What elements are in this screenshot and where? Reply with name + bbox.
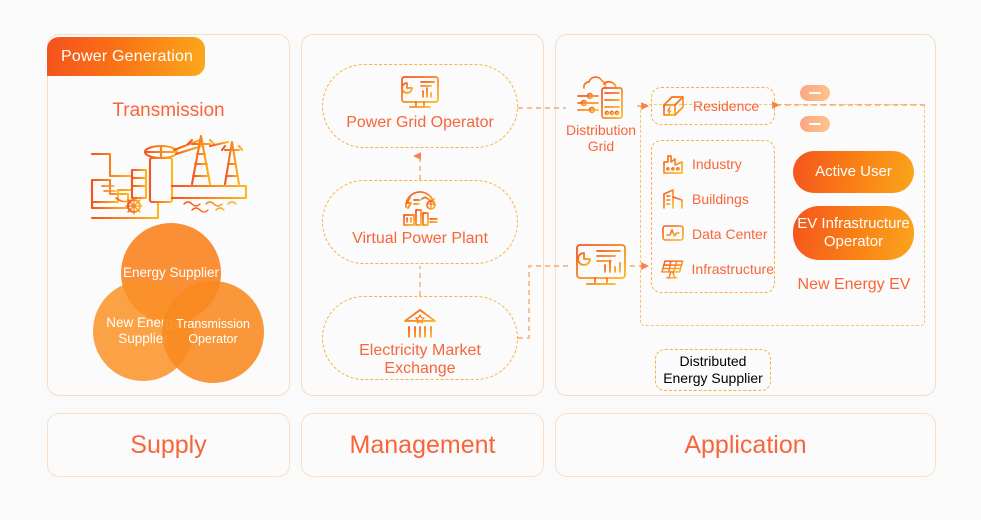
monitor-analytics-icon [399, 75, 441, 111]
residence-label: Residence [693, 98, 759, 114]
node-virtual-power-plant[interactable]: Virtual Power Plant [322, 180, 518, 264]
new-energy-ev-label: New Energy EV [784, 276, 924, 294]
power-generation-label: Power Generation [61, 48, 193, 66]
cloud-server-grid-icon [574, 74, 628, 120]
solar-panel-icon [661, 258, 685, 280]
power-plant-energy-icon [398, 191, 442, 227]
venn-circle-transmission-operator: Transmission Operator [162, 281, 264, 383]
node-power-grid-operator[interactable]: Power Grid Operator [322, 64, 518, 148]
facility-item-infrastructure[interactable]: Infrastructure [661, 258, 774, 280]
footer-management: Management [301, 413, 544, 477]
facility-label-industry: Industry [692, 156, 742, 172]
bank-exchange-icon [401, 307, 439, 339]
data-center-monitor-icon [661, 223, 685, 245]
node-label-virtual-power-plant: Virtual Power Plant [352, 230, 488, 249]
office-building-icon [661, 188, 685, 210]
button-active-user[interactable]: Active User [793, 151, 914, 193]
facility-label-data-center: Data Center [692, 226, 767, 242]
factory-icon [661, 153, 685, 175]
venn-label-energy-supplier: Energy Supplier [123, 265, 219, 281]
button-ev-infrastructure-operator[interactable]: EV Infrastructure Operator [793, 206, 914, 260]
house-icon [661, 94, 686, 118]
distribution-grid-label: Distribution Grid [566, 122, 636, 154]
facility-item-industry[interactable]: Industry [661, 153, 774, 175]
venn-label-transmission-operator: Transmission Operator [162, 317, 264, 348]
transmission-label: Transmission [47, 100, 290, 122]
residence-item: Residence [661, 94, 759, 118]
footer-label-management: Management [350, 431, 496, 460]
hydropower-plant-transmission-tower-icon [88, 128, 250, 228]
facility-item-buildings[interactable]: Buildings [661, 188, 774, 210]
distribution-grid-node: Distribution Grid [566, 74, 636, 158]
footer-supply: Supply [47, 413, 290, 477]
button-label-active-user: Active User [815, 163, 892, 181]
diagram-canvas: Power Generation Transmission [0, 0, 981, 520]
footer-label-application: Application [684, 431, 806, 460]
button-label-ev-infrastructure-operator: EV Infrastructure Operator [793, 215, 914, 251]
facility-item-data-center[interactable]: Data Center [661, 223, 774, 245]
footer-label-supply: Supply [130, 431, 206, 460]
node-label-electricity-market-exchange: Electricity Market Exchange [323, 342, 517, 379]
app-node-residence[interactable]: Residence [651, 87, 775, 125]
power-generation-tab[interactable]: Power Generation [47, 37, 205, 76]
ev-battery-pill-icon-1 [800, 85, 830, 101]
app-node-distributed-energy-supplier[interactable]: Distributed Energy Supplier [655, 349, 771, 391]
ev-battery-pill-icon-2 [800, 116, 830, 132]
distributed-energy-supplier-label: Distributed Energy Supplier [656, 353, 770, 386]
node-electricity-market-exchange[interactable]: Electricity Market Exchange [322, 296, 518, 380]
node-label-power-grid-operator: Power Grid Operator [346, 114, 494, 133]
monitor-chart-icon [573, 242, 629, 290]
app-facilities-group: Industry Buildings [651, 140, 775, 293]
facility-label-buildings: Buildings [692, 191, 749, 207]
facility-label-infrastructure: Infrastructure [692, 261, 774, 277]
footer-application: Application [555, 413, 936, 477]
